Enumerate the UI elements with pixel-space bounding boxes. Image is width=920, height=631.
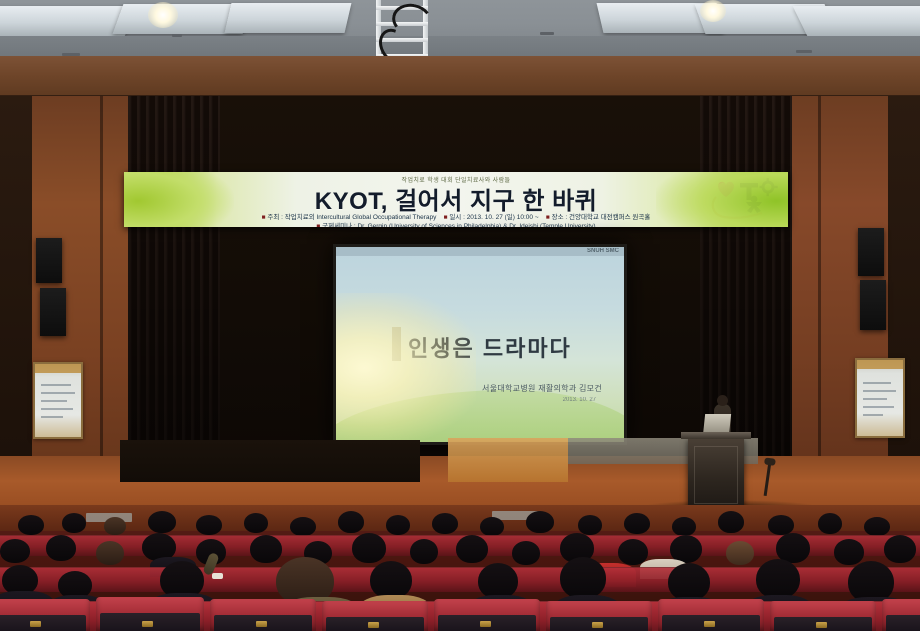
audience-head xyxy=(62,513,86,533)
wall-speaker-right-lower xyxy=(860,280,886,330)
audience-head xyxy=(196,515,222,535)
audience-head xyxy=(148,511,176,533)
lectern-front-panel xyxy=(694,446,738,504)
audience-head xyxy=(18,515,44,535)
audience-head xyxy=(624,513,650,534)
audience-head xyxy=(96,541,124,565)
wall-notice-poster-right xyxy=(855,358,905,438)
seat-number-plate xyxy=(256,621,267,627)
audience-head xyxy=(512,541,540,565)
audience-head xyxy=(244,513,268,533)
audience-head xyxy=(410,539,438,564)
slide-accent-bar xyxy=(392,327,401,361)
microphone-head xyxy=(764,457,776,465)
seat-number-plate xyxy=(30,621,41,627)
audience-head xyxy=(864,517,890,536)
banner-subline-seminar: ■ 국제세미나 : Dr. Gergin (University of Scie… xyxy=(124,220,788,227)
event-banner: 작업치료 학생 대회 단일치료사와 사람들 KYOT, 걸어서 지구 한 바퀴 … xyxy=(124,172,788,227)
audience-head xyxy=(0,539,30,563)
audience-head xyxy=(46,535,76,561)
wall-notice-poster-left xyxy=(33,362,83,439)
bullet-icon: ■ xyxy=(316,223,320,227)
wall-speaker-left-upper xyxy=(36,238,62,283)
slide-top-bar: SNUH SMC xyxy=(336,247,624,256)
audience-head xyxy=(456,535,488,563)
wall-speaker-right-upper xyxy=(858,228,884,276)
audience-head xyxy=(104,517,126,535)
audience-head xyxy=(756,559,800,599)
banner-seminar: 국제세미나 : Dr. Gergin (University of Scienc… xyxy=(322,223,595,227)
auditorium-photo: 작업치료 학생 대회 단일치료사와 사람들 KYOT, 걸어서 지구 한 바퀴 … xyxy=(0,0,920,631)
seat-number-plate xyxy=(368,622,379,628)
audience-head xyxy=(884,535,916,563)
audience-head xyxy=(370,561,412,599)
stage-curtain-left xyxy=(128,96,220,456)
audience-head xyxy=(480,517,504,536)
ceiling-light-panel xyxy=(225,3,352,33)
projection-screen-frame: SNUH SMC 인생은 드라마다 서울대학교병원 재활의학과 김모건 2013… xyxy=(333,244,627,445)
ceiling-vent xyxy=(540,32,554,35)
wall-speaker-left-lower xyxy=(40,288,66,336)
stage-light-panel xyxy=(448,438,568,482)
audience-head xyxy=(834,539,864,565)
ceiling-spotlight xyxy=(148,2,178,28)
seat-number-plate xyxy=(592,622,603,628)
stage-backdrop-panel xyxy=(120,440,420,482)
audience-head xyxy=(672,517,696,536)
projection-screen: SNUH SMC 인생은 드라마다 서울대학교병원 재활의학과 김모건 2013… xyxy=(336,247,624,442)
ceiling-spotlight xyxy=(700,0,726,22)
slide-title: 인생은 드라마다 xyxy=(408,331,572,363)
audience-head xyxy=(290,517,316,536)
ceiling-vent xyxy=(172,34,182,37)
seat-number-plate xyxy=(142,621,153,627)
seat-number-plate xyxy=(816,622,827,628)
audience-head xyxy=(432,513,458,534)
lectern-top xyxy=(681,432,751,439)
heart-t-person-logo xyxy=(706,177,782,221)
ceiling-vent xyxy=(796,50,812,53)
stage-curtain-right xyxy=(700,96,792,456)
audience-area xyxy=(0,505,920,631)
upper-wall-fascia xyxy=(0,56,920,100)
audience-head xyxy=(250,535,282,563)
audience-sleeve-cuff xyxy=(212,573,223,579)
audience-head xyxy=(768,515,794,535)
audience-head xyxy=(726,541,754,565)
ceiling-light-panel xyxy=(793,6,920,36)
seat-cushion xyxy=(886,615,920,631)
audience-head xyxy=(718,511,744,533)
audience-head xyxy=(352,533,386,563)
audience-head xyxy=(818,513,842,534)
audience-head xyxy=(386,515,410,535)
ceiling xyxy=(0,0,920,58)
audience-head xyxy=(338,511,364,533)
slide-date: 2013. 10. 27 xyxy=(563,397,596,403)
audience-head xyxy=(478,563,518,599)
seat-number-plate xyxy=(704,621,715,627)
seat-cushion xyxy=(0,615,86,631)
slide-topbar-right-text: SNUH SMC xyxy=(587,248,619,254)
slide-author: 서울대학교병원 재활의학과 김모건 xyxy=(482,383,602,394)
lectern xyxy=(688,438,744,510)
presenter-head xyxy=(717,395,728,406)
audience-head xyxy=(526,511,554,533)
audience-head xyxy=(578,515,602,535)
audience-head xyxy=(668,563,710,601)
seat-number-plate xyxy=(480,621,491,627)
audience-head xyxy=(560,557,606,599)
